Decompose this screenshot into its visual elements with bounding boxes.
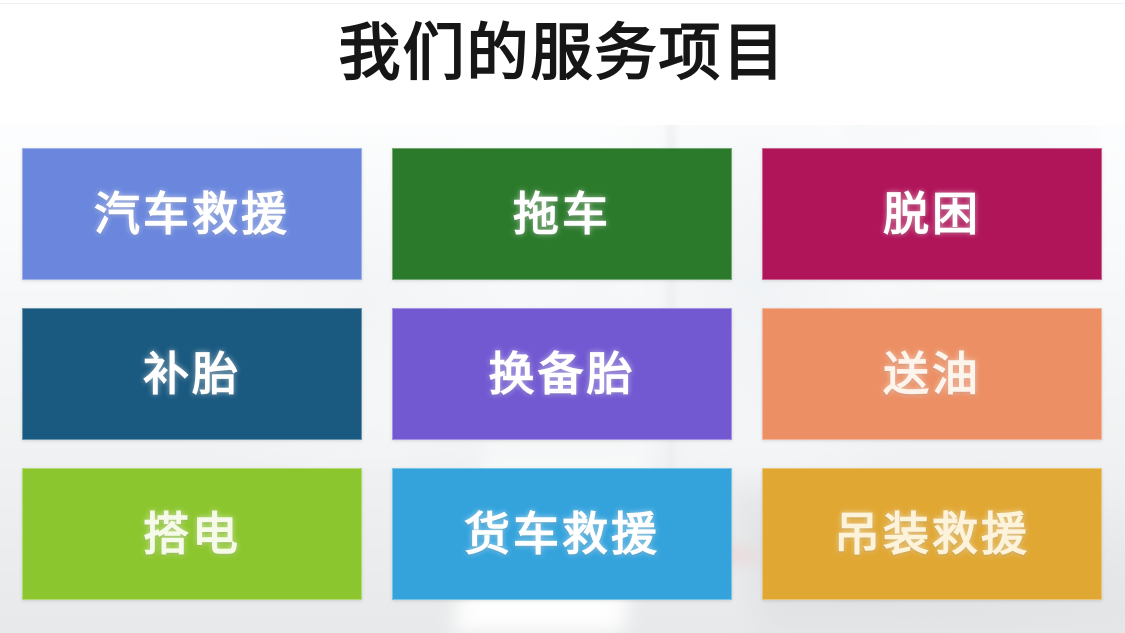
service-tile-spare-tire-change[interactable]: 换备胎 <box>392 308 732 440</box>
service-tile-label: 货车救援 <box>464 511 660 557</box>
background-top-hairline <box>0 3 1125 4</box>
service-tile-label: 汽车救援 <box>94 191 290 237</box>
service-tile-jump-start[interactable]: 搭电 <box>22 468 362 600</box>
title-container: 我们的服务项目 <box>0 22 1125 85</box>
service-tile-label: 吊装救援 <box>834 511 1030 557</box>
service-tile-label: 脱困 <box>883 191 981 237</box>
service-tile-label: 送油 <box>883 351 981 397</box>
service-tile-label: 换备胎 <box>489 351 636 397</box>
service-tile-crane-rescue[interactable]: 吊装救援 <box>762 468 1102 600</box>
service-tile-car-rescue[interactable]: 汽车救援 <box>22 148 362 280</box>
service-grid: 汽车救援 拖车 脱困 补胎 换备胎 送油 搭电 货车救援 吊装救援 <box>22 148 1102 600</box>
service-tile-label: 补胎 <box>143 351 241 397</box>
service-tile-truck-rescue[interactable]: 货车救援 <box>392 468 732 600</box>
service-tile-tow-truck[interactable]: 拖车 <box>392 148 732 280</box>
service-poster: 我们的服务项目 汽车救援 拖车 脱困 补胎 换备胎 送油 搭电 货车救援 吊装救… <box>0 0 1125 633</box>
service-tile-tire-repair[interactable]: 补胎 <box>22 308 362 440</box>
service-tile-extrication[interactable]: 脱困 <box>762 148 1102 280</box>
service-tile-label: 搭电 <box>143 511 241 557</box>
service-tile-fuel-delivery[interactable]: 送油 <box>762 308 1102 440</box>
service-tile-label: 拖车 <box>513 191 611 237</box>
page-title: 我们的服务项目 <box>338 22 786 85</box>
